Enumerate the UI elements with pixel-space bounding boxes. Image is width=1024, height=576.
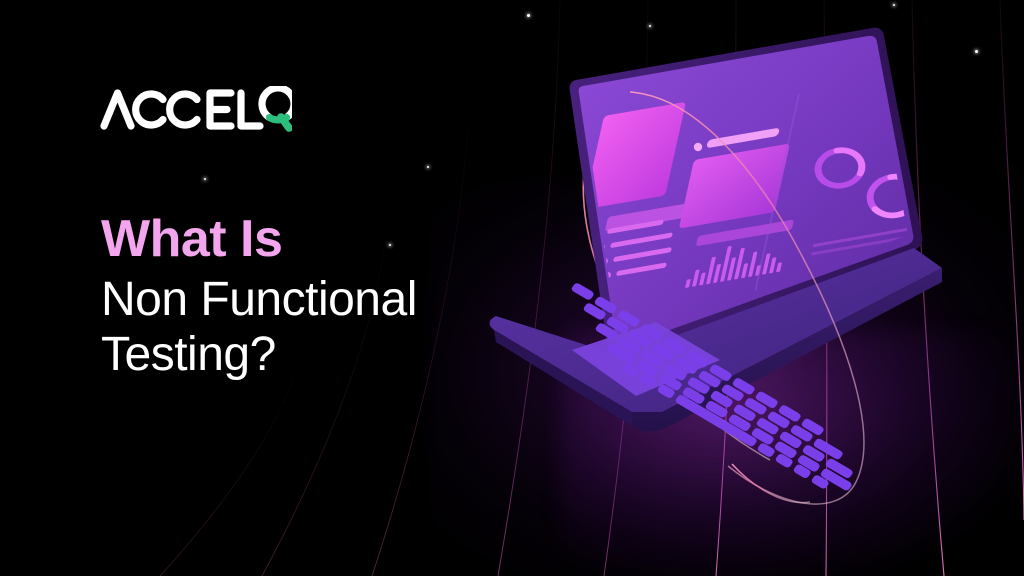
star-dot — [427, 166, 429, 168]
dashboard-card-dot — [694, 143, 702, 151]
star-dot — [204, 178, 206, 180]
logo-wordmark-white — [104, 93, 260, 126]
logo-q-letter — [262, 88, 292, 128]
star-dot — [893, 4, 895, 6]
promo-banner: What Is Non Functional Testing? — [0, 0, 1024, 576]
accelq-logo[interactable] — [100, 86, 292, 132]
title-line-3: Testing? — [101, 330, 521, 381]
star-dot — [527, 14, 530, 17]
isometric-laptop-illustration — [480, 20, 1020, 550]
page-title: What Is Non Functional Testing? — [101, 212, 521, 381]
title-line-1: What Is — [101, 212, 521, 267]
title-line-2: Non Functional — [101, 275, 521, 326]
